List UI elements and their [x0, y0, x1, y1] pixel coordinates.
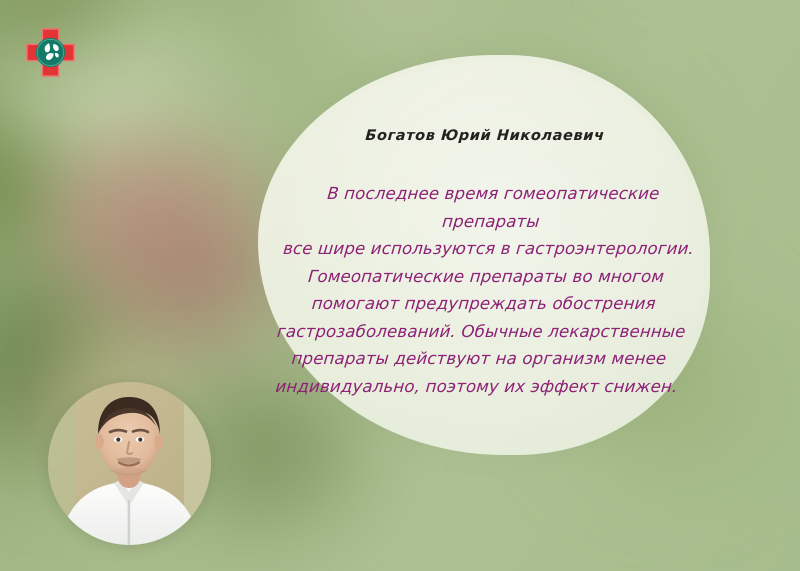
quote-line: все шире используются в гастроэнтерологи… — [270, 235, 706, 263]
quote-line: помогают предупреждать обострения — [266, 290, 702, 318]
doctor-name: Богатов Юрий Николаевич — [267, 128, 702, 144]
quote-line: гастрозаболеваний. Обычные лекарственные — [263, 318, 699, 346]
quote-text: В последнее время гомеопатические препар… — [258, 180, 711, 400]
quote-block: Богатов Юрий Николаевич В последнее врем… — [268, 128, 702, 400]
doctor-portrait[interactable] — [48, 382, 211, 545]
quote-line: Гомеопатические препараты во многом — [268, 263, 704, 291]
quote-line: препараты действуют на организм менее — [261, 345, 697, 373]
quote-line: В последнее время гомеопатические препар… — [273, 180, 712, 235]
cross-leaf-icon — [24, 26, 77, 79]
foliage-highlight-top — [270, 0, 530, 60]
quote-line: индивидуально, поэтому их эффект снижен. — [258, 373, 694, 401]
quote-card: Богатов Юрий Николаевич В последнее врем… — [0, 0, 800, 571]
clinic-logo[interactable] — [24, 26, 77, 79]
portrait-photo — [48, 382, 211, 545]
